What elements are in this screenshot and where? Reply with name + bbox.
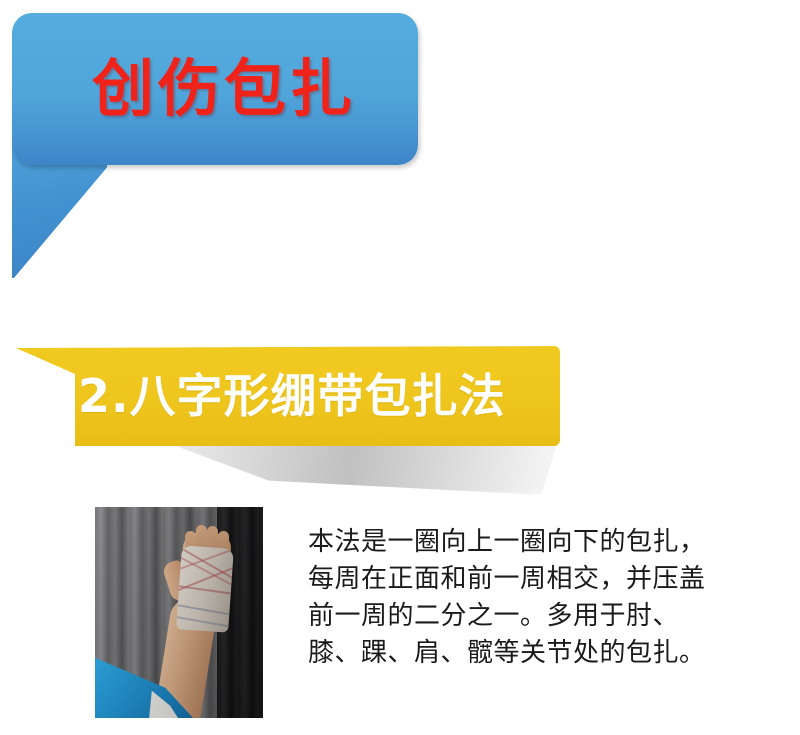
- photo-vignette: [95, 507, 263, 718]
- body-paragraph: 本法是一圈向上一圈向下的包扎， 每周在正面和前一周相交，并压盖 前一周的二分之一…: [308, 524, 788, 672]
- section-banner: 2.八字形绷带包扎法: [0, 335, 620, 475]
- title-banner: 创伤包扎: [0, 0, 440, 290]
- body-line-2: 每周在正面和前一周相交，并压盖: [308, 561, 788, 598]
- page-title: 创伤包扎: [12, 13, 418, 165]
- body-line-1: 本法是一圈向上一圈向下的包扎，: [308, 524, 788, 561]
- bandaged-hand-photo: [93, 505, 265, 720]
- section-banner-text-wrap: 2.八字形绷带包扎法: [12, 346, 560, 446]
- content-row: 本法是一圈向上一圈向下的包扎， 每周在正面和前一周相交，并压盖 前一周的二分之一…: [0, 500, 800, 735]
- section-title: 2.八字形绷带包扎法: [78, 373, 505, 419]
- body-line-3: 前一周的二分之一。多用于肘、: [308, 598, 788, 635]
- body-line-4: 膝、踝、肩、髋等关节处的包扎。: [308, 635, 788, 672]
